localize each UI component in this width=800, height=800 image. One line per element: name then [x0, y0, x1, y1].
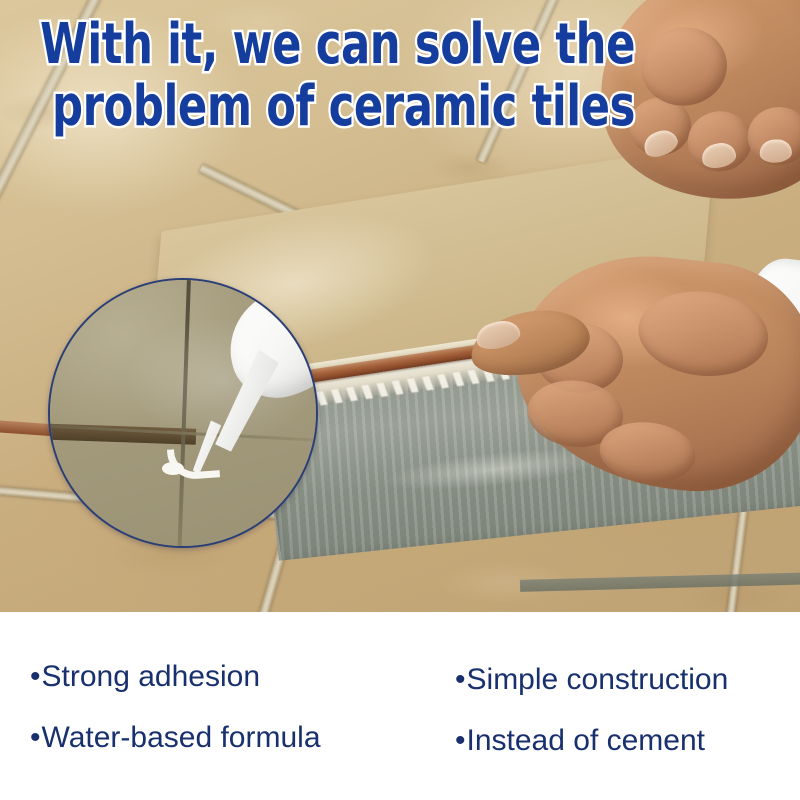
headline-line-1: With it, we can solve the	[40, 14, 625, 76]
bullet-icon: •	[455, 724, 466, 758]
knuckle	[634, 285, 772, 382]
bullet-icon: •	[30, 660, 41, 694]
feature-label: Water-based formula	[42, 721, 321, 755]
glue-drop	[162, 462, 184, 475]
feature-item: • Water-based formula	[30, 721, 321, 755]
headline: With it, we can solve the problem of cer…	[40, 14, 720, 138]
product-photo: With it, we can solve the problem of cer…	[0, 0, 800, 612]
bullet-icon: •	[30, 721, 41, 755]
feature-label: Strong adhesion	[42, 660, 261, 694]
feature-column-left: • Strong adhesion • Water-based formula	[30, 612, 321, 755]
product-poster: With it, we can solve the problem of cer…	[0, 0, 800, 800]
feature-label: Simple construction	[467, 663, 729, 697]
headline-line-2: problem of ceramic tiles	[52, 76, 626, 138]
feature-item: • Strong adhesion	[30, 660, 321, 694]
feature-list: • Strong adhesion • Water-based formula …	[0, 612, 800, 800]
bullet-icon: •	[455, 663, 466, 697]
feature-item: • Simple construction	[455, 663, 728, 697]
feature-item: • Instead of cement	[455, 724, 728, 758]
magnifier-closeup-circle	[48, 278, 318, 548]
feature-label: Instead of cement	[467, 724, 705, 758]
feature-column-right: • Simple construction • Instead of cemen…	[455, 612, 728, 758]
